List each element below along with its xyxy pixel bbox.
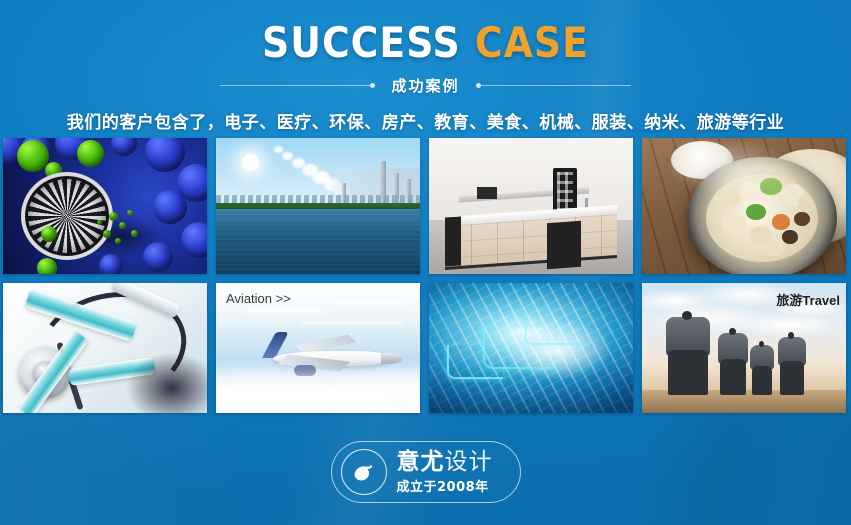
green-sphere — [37, 258, 57, 274]
circuit-trace — [525, 311, 587, 345]
logo-name-bold: 意尤 — [397, 449, 445, 475]
title-word-case: CASE — [475, 18, 589, 67]
hiker-head — [729, 328, 736, 335]
aviation-caption: Aviation >> — [226, 291, 291, 306]
green-speck — [131, 230, 138, 237]
hiker-head — [682, 311, 692, 320]
sun-icon — [242, 154, 259, 171]
bench-endcap-left — [445, 216, 461, 266]
hiker-head — [759, 341, 764, 347]
bird-mark-icon — [341, 449, 387, 495]
cloud-wisp — [302, 321, 402, 324]
green-sphere — [77, 140, 104, 167]
case-gallery: Aviation >> — [3, 138, 848, 413]
background-shadow — [127, 353, 207, 413]
hiker-figure — [720, 333, 746, 395]
bench-endcap-center — [547, 221, 581, 270]
poster-stage: SUCCESS CASE 成功案例 我们的客户包含了，电子、医疗、环保、房产、教… — [0, 0, 851, 525]
green-sphere — [41, 226, 57, 242]
logo-established-year: 成立于2008年 — [397, 481, 493, 494]
gallery-tile-laboratory[interactable] — [429, 138, 633, 274]
title-word-success: SUCCESS — [262, 18, 461, 67]
gallery-tile-environment[interactable] — [216, 138, 420, 274]
gallery-tile-nanotech[interactable] — [3, 138, 207, 274]
page-title: SUCCESS CASE — [0, 22, 851, 64]
steam-overlay — [642, 138, 846, 274]
divider-line-left — [220, 85, 370, 86]
fullerene-outline — [21, 172, 113, 260]
smoke-puff — [274, 146, 283, 153]
logo-company-name: 意尤设计 — [397, 451, 493, 474]
green-speck — [109, 212, 118, 221]
gallery-tile-food[interactable] — [642, 138, 846, 274]
cloud-wisp — [246, 309, 326, 312]
smoke-puff — [282, 152, 293, 160]
gallery-tile-travel[interactable]: 旅游Travel — [642, 283, 846, 413]
green-speck — [127, 210, 133, 216]
hiker-figure — [668, 317, 708, 395]
hiker-body — [780, 361, 804, 395]
sphere — [99, 254, 123, 274]
divider-line-right — [481, 85, 631, 86]
travel-caption-cn: 旅游 — [776, 294, 802, 309]
water-surface — [216, 209, 420, 274]
green-speck — [103, 230, 111, 238]
travel-caption: 旅游Travel — [776, 290, 840, 309]
green-speck — [115, 238, 121, 244]
subtitle-divider-row: 成功案例 — [0, 75, 851, 96]
sphere — [181, 222, 207, 258]
sphere — [111, 138, 137, 156]
hiker-figure — [780, 337, 804, 395]
gallery-tile-technology[interactable] — [429, 283, 633, 413]
gallery-tile-medical[interactable] — [3, 283, 207, 413]
hiker-figure — [752, 345, 772, 395]
sphere — [145, 138, 185, 172]
cloud-wisp — [336, 301, 406, 304]
logo-name-thin: 设计 — [445, 449, 493, 475]
green-sphere — [17, 140, 49, 172]
cloud-band — [216, 358, 420, 413]
hiker-body — [752, 366, 772, 395]
tagline-text: 我们的客户包含了，电子、医疗、环保、房产、教育、美食、机械、服装、纳米、旅游等行… — [0, 108, 851, 133]
bench-module — [477, 187, 497, 199]
company-logo[interactable]: 意尤设计 成立于2008年 — [331, 441, 521, 503]
green-speck — [119, 222, 126, 229]
green-speck — [97, 220, 102, 225]
subtitle-chinese: 成功案例 — [375, 75, 475, 96]
poster-header: SUCCESS CASE 成功案例 我们的客户包含了，电子、医疗、环保、房产、教… — [0, 0, 851, 133]
travel-caption-en: Travel — [802, 293, 840, 308]
hiker-body — [668, 350, 708, 395]
gallery-tile-aviation[interactable]: Aviation >> — [216, 283, 420, 413]
hiker-body — [720, 359, 746, 395]
logo-text-block: 意尤设计 成立于2008年 — [397, 451, 493, 494]
